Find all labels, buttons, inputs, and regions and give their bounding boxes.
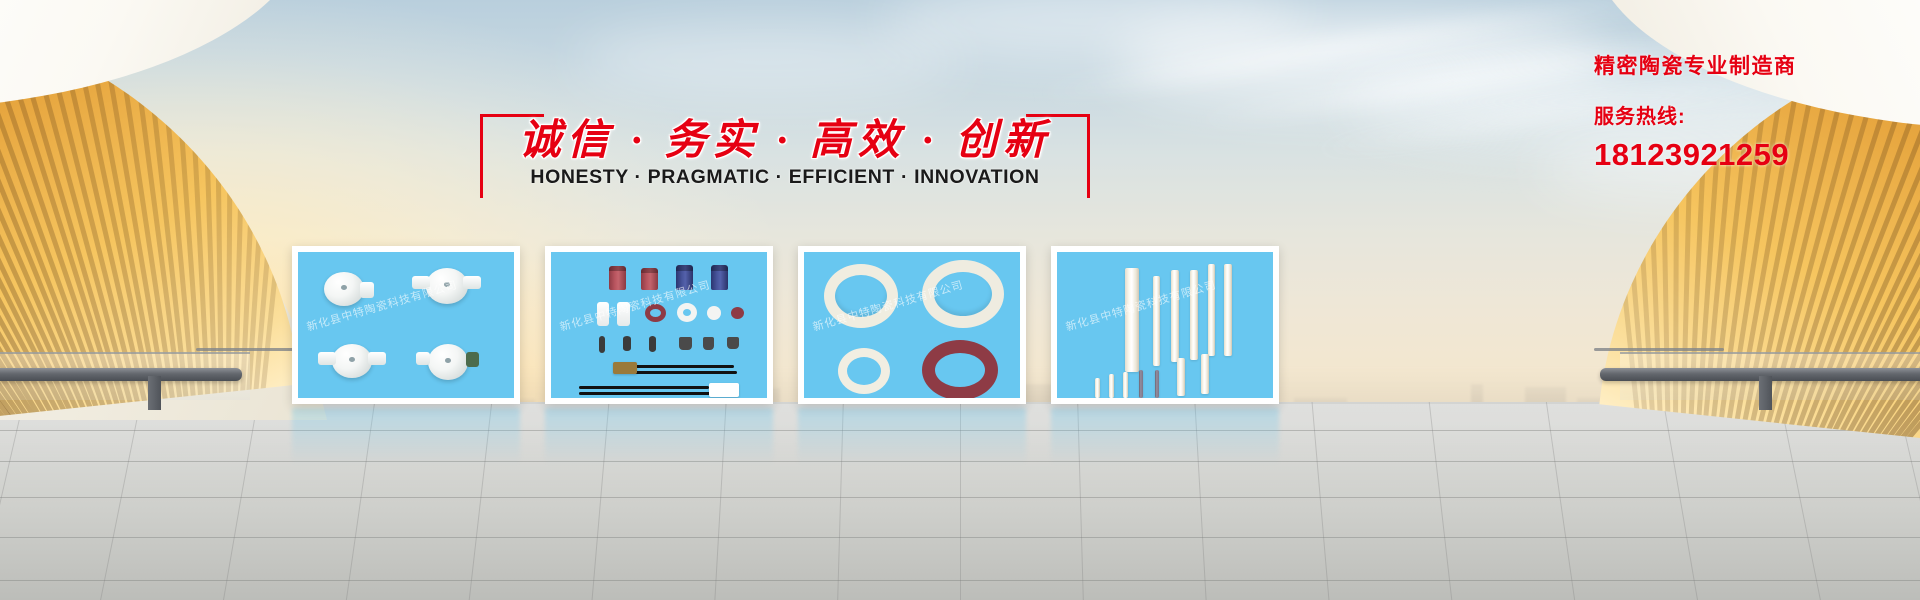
ceramic-rod bbox=[1190, 270, 1198, 360]
handrail-post-right bbox=[1759, 376, 1772, 410]
slogan-chinese: 诚信 · 务实 · 高效 · 创新 bbox=[480, 106, 1090, 167]
floor-seam-vertical bbox=[960, 402, 961, 600]
metal-blade bbox=[623, 336, 631, 351]
ceramic-ring-small bbox=[838, 348, 890, 394]
ceramic-tube-red bbox=[609, 266, 626, 290]
hotline-label: 服务热线: bbox=[1594, 100, 1864, 129]
holder-ear bbox=[318, 352, 336, 365]
panel-content bbox=[1057, 252, 1273, 398]
holder-ear bbox=[412, 276, 430, 289]
ceramic-rod-dark bbox=[1139, 370, 1143, 398]
metal-blade bbox=[649, 336, 656, 352]
slogan-block: 诚信 · 务实 · 高效 · 创新 HONESTY · PRAGMATIC · … bbox=[480, 104, 1090, 200]
handrail-post-left bbox=[148, 376, 161, 410]
holder-terminal bbox=[360, 282, 374, 298]
ceramic-rod-dark bbox=[1155, 370, 1159, 398]
ceramic-rod-small bbox=[1109, 374, 1114, 398]
ceramic-ring-large bbox=[824, 264, 898, 328]
ceramic-rod bbox=[1125, 268, 1139, 372]
metal-clip bbox=[727, 337, 739, 349]
holder-ear bbox=[416, 352, 430, 365]
ceramic-rod bbox=[1153, 276, 1160, 366]
metal-blade bbox=[599, 336, 605, 353]
ceramic-lamp-holder bbox=[426, 268, 468, 304]
metal-clip bbox=[679, 337, 692, 350]
ceramic-tube-blue bbox=[711, 265, 728, 290]
ceramic-rod-small bbox=[1177, 358, 1185, 396]
panel-content bbox=[804, 252, 1020, 398]
ceramic-ring-large bbox=[922, 260, 1004, 328]
cloud bbox=[576, 24, 960, 96]
hotline-number[interactable]: 18123921259 bbox=[1594, 137, 1864, 173]
contact-info-block: 精密陶瓷专业制造商 服务热线: 18123921259 bbox=[1594, 50, 1864, 173]
holder-ear bbox=[463, 276, 481, 289]
ceramic-plate bbox=[617, 302, 630, 326]
product-panel-row: 新化县中特陶瓷科技有限公司 bbox=[292, 246, 1532, 406]
ceramic-ring-red bbox=[645, 304, 666, 322]
company-tagline: 精密陶瓷专业制造商 bbox=[1594, 50, 1864, 80]
white-connector bbox=[709, 383, 739, 397]
ceramic-rod bbox=[1171, 270, 1179, 362]
wire-lead bbox=[579, 386, 709, 389]
holder-ear bbox=[368, 352, 386, 365]
product-panel-rings[interactable]: 新化县中特陶瓷科技有限公司 bbox=[798, 246, 1026, 404]
ceramic-tube-red bbox=[641, 268, 658, 290]
ceramic-plate bbox=[597, 302, 609, 326]
handrail-thin-right bbox=[1594, 348, 1724, 351]
ceramic-rod-small bbox=[1123, 372, 1128, 398]
ceramic-rod-small bbox=[1201, 354, 1209, 394]
product-panel-lamp-holders[interactable]: 新化县中特陶瓷科技有限公司 bbox=[292, 246, 520, 404]
ceramic-cap-white bbox=[707, 306, 721, 320]
panel-content bbox=[551, 252, 767, 398]
terminal-block bbox=[613, 362, 637, 374]
arch-cap-left bbox=[0, 0, 310, 110]
metal-clip bbox=[703, 337, 714, 350]
ceramic-lamp-holder bbox=[428, 344, 468, 380]
ceramic-rod bbox=[1224, 264, 1232, 356]
ceramic-ring-red bbox=[922, 340, 998, 400]
ceramic-cap-red bbox=[731, 307, 744, 319]
slogan-english: HONESTY · PRAGMATIC · EFFICIENT · INNOVA… bbox=[480, 166, 1090, 189]
ceramic-ring-white bbox=[677, 303, 697, 322]
holder-contact bbox=[466, 352, 479, 367]
ceramic-rod-small bbox=[1095, 378, 1100, 398]
product-panel-rods[interactable]: 新化县中特陶瓷科技有限公司 bbox=[1051, 246, 1279, 404]
ceramic-rod bbox=[1208, 264, 1215, 356]
ceramic-lamp-holder bbox=[324, 272, 364, 306]
product-panel-connectors[interactable]: 新化县中特陶瓷科技有限公司 bbox=[545, 246, 773, 404]
wire-lead bbox=[579, 392, 711, 395]
hero-banner: 诚信 · 务实 · 高效 · 创新 HONESTY · PRAGMATIC · … bbox=[0, 0, 1920, 600]
panel-content bbox=[298, 252, 514, 398]
handrail-left bbox=[0, 368, 242, 381]
ceramic-tube-blue bbox=[676, 265, 693, 290]
ceramic-lamp-holder bbox=[332, 344, 372, 378]
